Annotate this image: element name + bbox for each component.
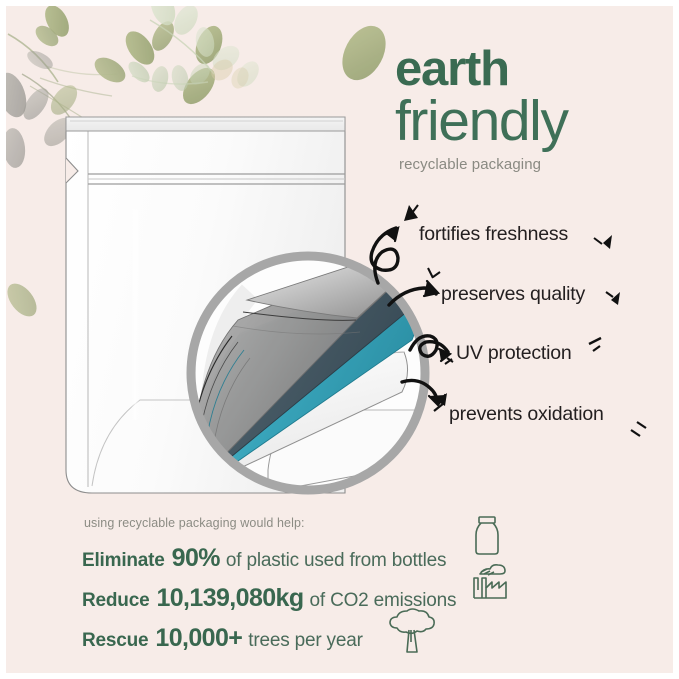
poster-canvas: earth friendly recyclable packaging fort…: [0, 0, 679, 679]
stat-tail: trees per year: [248, 630, 362, 652]
stat-verb: Eliminate: [82, 550, 165, 572]
stats-block: using recyclable packaging would help: E…: [82, 516, 602, 664]
stat-value: 10,139,080kg: [156, 584, 303, 613]
stat-value: 10,000+: [155, 624, 242, 653]
factory-icon: [468, 560, 510, 600]
headline-block: earth friendly recyclable packaging: [395, 46, 665, 173]
bottle-icon: [470, 514, 504, 558]
headline-subtitle: recyclable packaging: [399, 156, 665, 173]
headline-line-2: friendly: [395, 93, 665, 150]
headline-line-1: earth: [395, 46, 665, 93]
tree-icon: [379, 606, 443, 656]
stat-row: Eliminate 90% of plastic used from bottl…: [82, 544, 602, 573]
stat-value: 90%: [172, 544, 220, 573]
stat-verb: Rescue: [82, 630, 148, 652]
feature-label-fortifies-freshness: fortifies freshness: [419, 223, 568, 246]
stats-intro: using recyclable packaging would help:: [84, 516, 602, 530]
stat-verb: Reduce: [82, 590, 149, 612]
feature-label-uv-protection: UV protection: [456, 342, 572, 365]
stat-tail: of plastic used from bottles: [226, 550, 446, 572]
feature-label-preserves-quality: preserves quality: [441, 283, 585, 306]
stat-row: Reduce 10,139,080kg of CO2 emissions: [82, 584, 602, 613]
stat-row: Rescue 10,000+ trees per year: [82, 624, 602, 653]
feature-label-prevents-oxidation: prevents oxidation: [449, 403, 604, 426]
